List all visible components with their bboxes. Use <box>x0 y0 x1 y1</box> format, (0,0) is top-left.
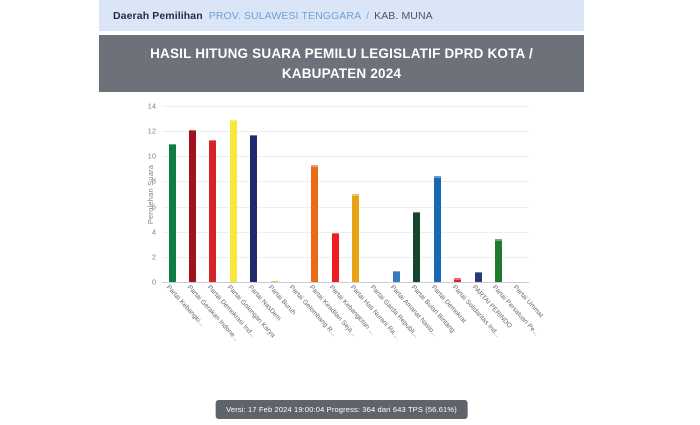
y-axis-tick: 6 <box>152 202 156 211</box>
bar-highlight <box>271 281 278 283</box>
bar[interactable] <box>271 281 278 283</box>
gridline: 4 <box>162 232 529 233</box>
y-axis-tick: 0 <box>152 278 156 287</box>
bar[interactable] <box>495 239 502 282</box>
gridline: 12 <box>162 131 529 132</box>
gridline: 2 <box>162 257 529 258</box>
bar-highlight <box>495 239 502 241</box>
breadcrumb-label: Daerah Pemilihan <box>113 10 203 22</box>
bar[interactable] <box>475 272 482 282</box>
y-axis-tick: 14 <box>148 102 156 111</box>
bar[interactable] <box>413 212 420 282</box>
bar-highlight <box>169 144 176 146</box>
y-axis-tick: 10 <box>148 152 156 161</box>
bar[interactable] <box>209 140 216 282</box>
vote-bar-chart: Perolehan Suara 02468101214 Partai Keban… <box>99 92 584 392</box>
page-title-text: HASIL HITUNG SUARA PEMILU LEGISLATIF DPR… <box>123 44 560 83</box>
y-axis-tick: 8 <box>152 177 156 186</box>
bar[interactable] <box>189 130 196 282</box>
breadcrumb-regency: KAB. MUNA <box>374 10 433 22</box>
bar[interactable] <box>250 135 257 282</box>
page-title: HASIL HITUNG SUARA PEMILU LEGISLATIF DPR… <box>99 35 584 92</box>
bar-highlight <box>250 135 257 137</box>
bar-highlight <box>332 233 339 235</box>
bar-highlight <box>454 278 461 280</box>
bar[interactable] <box>332 233 339 282</box>
bar[interactable] <box>393 271 400 282</box>
bar[interactable] <box>311 165 318 282</box>
x-axis-line: 0 <box>162 282 529 283</box>
y-axis-label-text: Perolehan Suara <box>146 164 155 223</box>
bar-highlight <box>189 130 196 132</box>
bar-highlight <box>413 212 420 214</box>
gridline: 8 <box>162 181 529 182</box>
y-axis-tick: 4 <box>152 227 156 236</box>
bar-highlight <box>209 140 216 142</box>
bar-highlight <box>393 271 400 273</box>
x-axis-tick-label: Partai Kebangki... <box>165 284 206 328</box>
breadcrumb: Daerah Pemilihan PROV. SULAWESI TENGGARA… <box>99 0 584 31</box>
bar-highlight <box>475 272 482 274</box>
y-axis-tick: 2 <box>152 252 156 261</box>
status-badge: Versi: 17 Feb 2024 19:00:04 Progress: 36… <box>215 400 468 419</box>
bar-highlight <box>352 194 359 196</box>
bar[interactable] <box>169 144 176 282</box>
bar[interactable] <box>454 278 461 282</box>
chart-plot-area: 02468101214 <box>162 106 529 282</box>
gridline: 14 <box>162 106 529 107</box>
bar-highlight <box>230 120 237 122</box>
bar-highlight <box>311 165 318 167</box>
y-axis-tick: 12 <box>148 127 156 136</box>
bar[interactable] <box>434 176 441 282</box>
bar-highlight <box>434 176 441 178</box>
result-card: Daerah Pemilihan PROV. SULAWESI TENGGARA… <box>99 0 584 425</box>
gridline: 6 <box>162 207 529 208</box>
page-root: Daerah Pemilihan PROV. SULAWESI TENGGARA… <box>0 0 700 425</box>
x-axis-labels: Partai Kebangki...Partai Gerakan Indone.… <box>162 284 529 384</box>
breadcrumb-separator: / <box>366 10 369 22</box>
bar[interactable] <box>230 120 237 282</box>
breadcrumb-province-link[interactable]: PROV. SULAWESI TENGGARA <box>209 10 361 22</box>
gridline: 10 <box>162 156 529 157</box>
bar[interactable] <box>352 194 359 282</box>
